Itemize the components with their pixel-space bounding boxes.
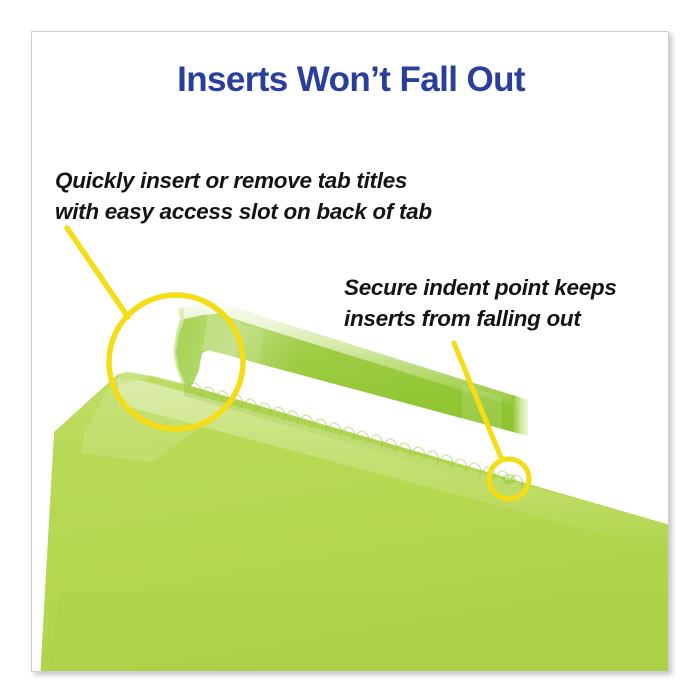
- callout-caption-easy-access-slot-line2: with easy access slot on back of tab: [55, 196, 432, 227]
- callout-caption-secure-indent-point-line2: inserts from falling out: [344, 303, 617, 334]
- screenshot-stage: Inserts Won’t Fall Out Quickly insert or…: [0, 0, 700, 700]
- callout-caption-secure-indent-point: Secure indent point keeps inserts from f…: [344, 272, 617, 334]
- product-illustration: [32, 32, 669, 672]
- callout-caption-easy-access-slot: Quickly insert or remove tab titles with…: [55, 165, 432, 227]
- page-title: Inserts Won’t Fall Out: [32, 60, 669, 100]
- product-photo: [32, 32, 669, 672]
- page-bottom-shade: [40, 592, 669, 672]
- secure-indent-point-highlight: [505, 476, 512, 481]
- callout-caption-easy-access-slot-line1: Quickly insert or remove tab titles: [55, 165, 432, 196]
- product-image-card: Inserts Won’t Fall Out Quickly insert or…: [31, 31, 669, 672]
- divider-page: [40, 372, 669, 672]
- callout-caption-secure-indent-point-line1: Secure indent point keeps: [344, 272, 617, 303]
